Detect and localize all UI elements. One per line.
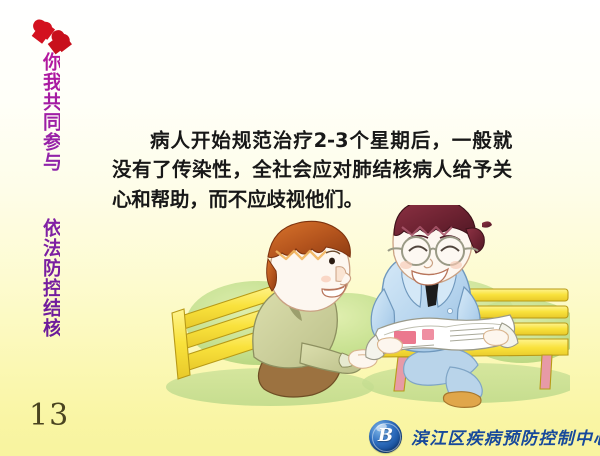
slide-canvas: 你我共同参与 依法防控结核 病人开始规范治疗2-3个星期后，一般就没有了传染性，… bbox=[0, 0, 600, 456]
vertical-slogan: 你我共同参与 依法防控结核 bbox=[28, 52, 60, 338]
page-number: 13 bbox=[29, 398, 69, 433]
heart-shape-small bbox=[49, 30, 75, 55]
heart-highlight bbox=[38, 24, 47, 32]
main-paragraph: 病人开始规范治疗2-3个星期后，一般就没有了传染性，全社会应对肺结核病人给予关心… bbox=[112, 126, 512, 215]
illustration-svg bbox=[150, 205, 570, 410]
blue-globe-b-logo-icon: B bbox=[369, 420, 402, 453]
illustration-bench-scene bbox=[150, 205, 570, 410]
organization-name: 滨江区疾病预防控制中心 bbox=[411, 424, 600, 449]
ground-shadow bbox=[166, 363, 570, 406]
footer-organization: B 滨江区疾病预防控制中心 bbox=[369, 418, 600, 454]
